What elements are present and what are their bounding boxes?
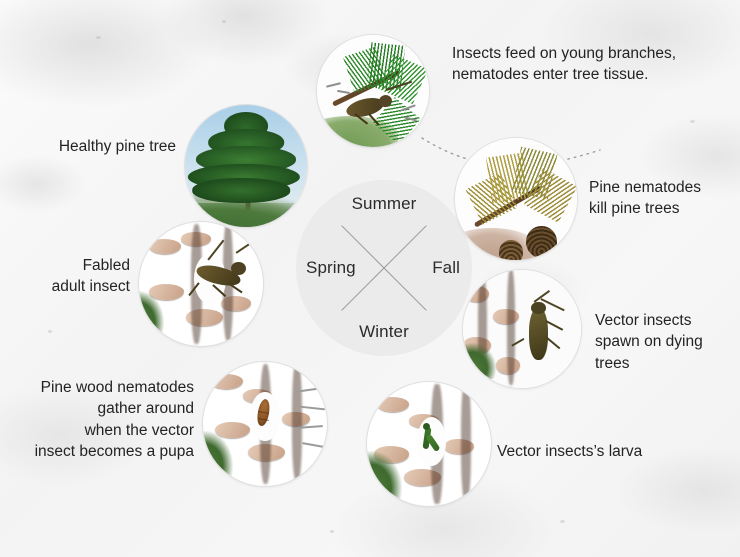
node-vector-larva[interactable] <box>367 382 491 506</box>
moss-patch <box>367 451 402 503</box>
photo-nematodes-kill <box>455 138 577 260</box>
photo-healthy-pine-tree <box>185 105 307 227</box>
season-label-winter: Winter <box>359 322 409 342</box>
caption-healthy-pine-tree: Healthy pine tree <box>18 136 176 157</box>
node-fabled-adult-insect[interactable] <box>139 222 263 346</box>
node-nematodes-kill[interactable] <box>455 138 577 260</box>
caption-nematodes-gather-pupa: Pine wood nematodes gather around when t… <box>8 377 194 463</box>
photo-vector-spawn <box>463 270 581 388</box>
background-speck <box>222 20 226 23</box>
beetle-body <box>529 308 548 360</box>
photo-nematodes-gather-pupa <box>203 362 327 486</box>
beetle-head <box>231 262 246 276</box>
pine-cone <box>499 240 523 260</box>
season-label-spring: Spring <box>306 258 356 278</box>
background-speck <box>690 120 695 123</box>
bark-crevice <box>507 270 514 385</box>
bark-crevice <box>461 382 471 501</box>
background-speck <box>560 520 565 523</box>
node-vector-spawn[interactable] <box>463 270 581 388</box>
node-insects-feed[interactable] <box>317 35 429 147</box>
photo-insects-feed <box>317 35 429 147</box>
caption-vector-spawn: Vector insects spawn on dying trees <box>595 310 737 374</box>
foliage-tier <box>192 178 290 202</box>
photo-vector-larva <box>367 382 491 506</box>
caption-nematodes-kill: Pine nematodes kill pine trees <box>589 177 739 220</box>
caption-fabled-adult-insect: Fabled adult insect <box>8 255 130 298</box>
pine-cone <box>526 226 558 258</box>
nematode-worm <box>326 83 341 88</box>
bark-crevice <box>292 362 302 481</box>
season-label-summer: Summer <box>352 194 417 214</box>
photo-fabled-adult-insect <box>139 222 263 346</box>
larva-head <box>423 423 430 430</box>
bark-flake <box>377 397 409 412</box>
moss-patch <box>203 431 233 481</box>
moss-patch <box>139 291 164 336</box>
node-nematodes-gather-pupa[interactable] <box>203 362 327 486</box>
node-healthy-pine-tree[interactable] <box>185 105 307 227</box>
moss-patch <box>463 343 496 378</box>
background-speck <box>330 530 334 533</box>
season-wheel: Summer Fall Winter Spring <box>296 180 472 356</box>
caption-vector-larva: Vector insects’s larva <box>497 441 697 462</box>
nematode-worm <box>337 90 351 94</box>
caption-insects-feed: Insects feed on young branches, nematode… <box>452 43 714 86</box>
season-label-fall: Fall <box>432 258 460 278</box>
beetle-head <box>531 302 545 314</box>
background-speck <box>48 330 52 333</box>
infographic-canvas: Summer Fall Winter Spring Healthy pine t… <box>0 0 740 557</box>
background-speck <box>96 36 101 39</box>
